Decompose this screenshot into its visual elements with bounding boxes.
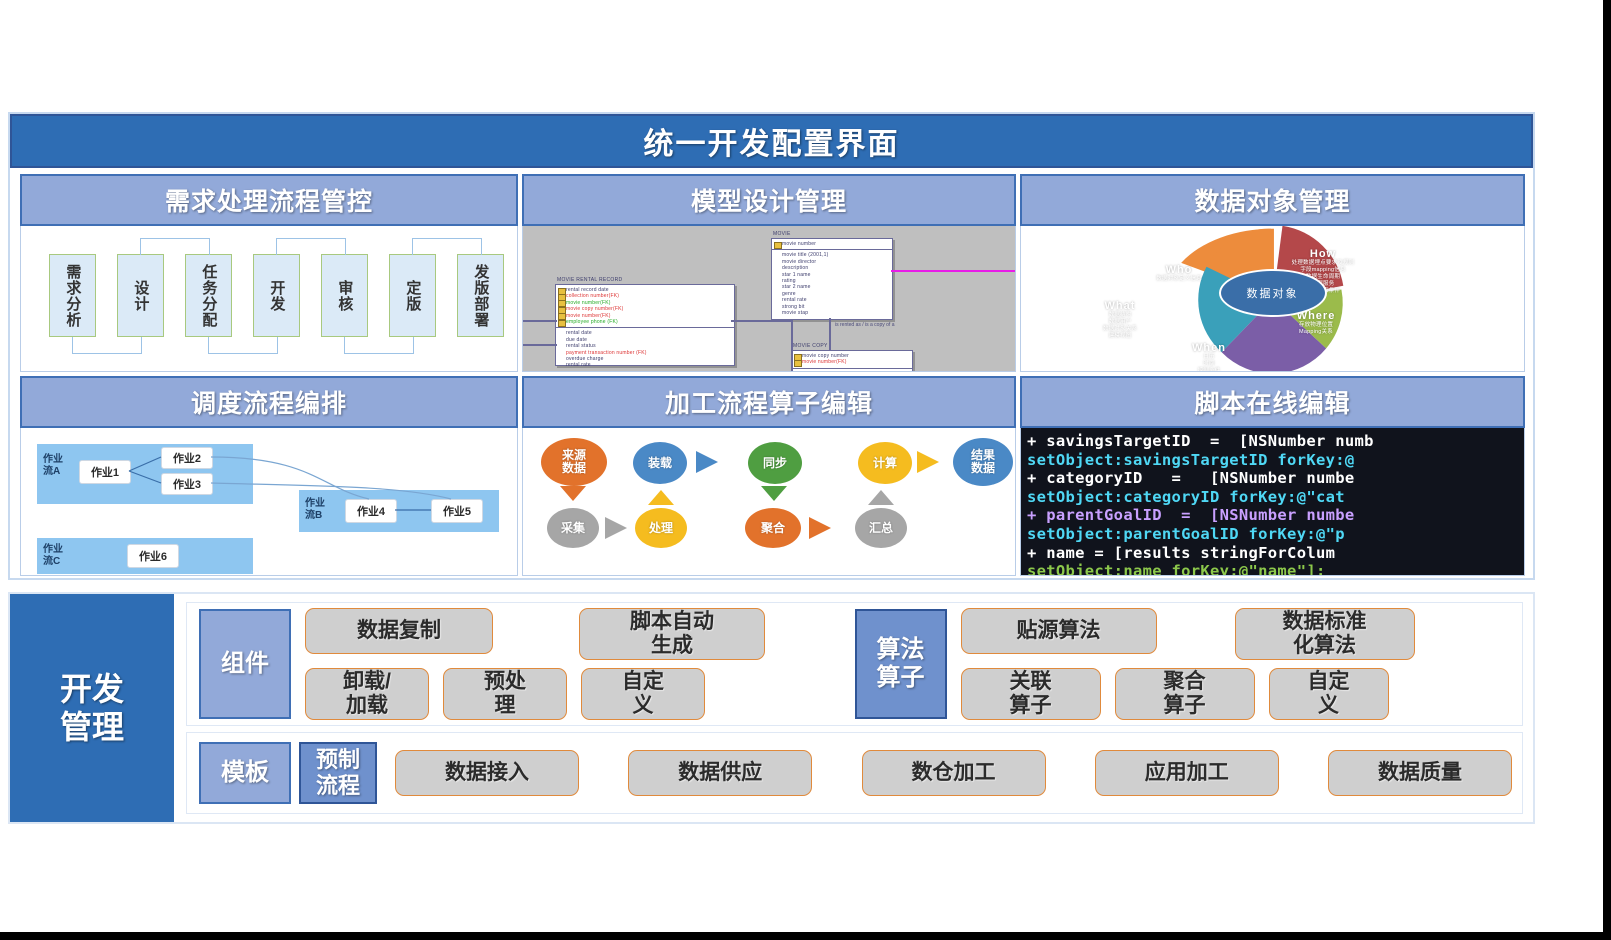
arrow-right-icon [917, 451, 939, 473]
panel-dataobject-title: 数据对象管理 [1194, 182, 1350, 218]
chip-item[interactable]: 数据接入 [395, 750, 579, 796]
algorithm-chip-list: 贴源算法 数据标准 化算法 关联 算子 聚合 算子 自定 义 [947, 609, 1511, 719]
code-line: setObject:savingsTargetID forKey:@ [1027, 451, 1524, 470]
category-preset-flow[interactable]: 预制 流程 [299, 742, 377, 804]
flow-step[interactable]: 发版部署 [457, 254, 504, 337]
code-line: + name = [results stringForColum [1027, 544, 1524, 563]
flow-connector [140, 238, 210, 255]
chip-item[interactable]: 脚本自动 生成 [579, 608, 765, 660]
category-algorithm-operators[interactable]: 算法 算子 [855, 609, 947, 719]
chip-item[interactable]: 应用加工 [1095, 750, 1279, 796]
panel-schedule-body: 作业 流A 作业1 作业2 作业3 作业 流B 作业4 作业5 作业 流C 作业… [20, 428, 518, 576]
operator-node-load[interactable]: 装载 [633, 442, 687, 484]
job-node[interactable]: 作业4 [345, 499, 397, 523]
panel-operator-body: 来源 数据 装载 同步 计算 结果 数据 采集 处理 聚合 汇总 [522, 428, 1016, 576]
arrow-right-icon [605, 517, 627, 539]
er-entity-movie-copy[interactable]: MOVIE COPY movie copy number movie numbe… [791, 350, 913, 372]
er-relationship-line [791, 320, 793, 372]
right-edge-bar [1603, 0, 1611, 940]
er-relationship-line [829, 318, 831, 350]
code-line: setObject:parentGoalID forKey:@"p [1027, 525, 1524, 544]
panel-dataobject-header: 数据对象管理 [1020, 174, 1525, 226]
unified-dev-config-section: 统一开发配置界面 需求处理流程管控 需求分析 设计 任务分配 开发 审核 定版 … [8, 112, 1535, 580]
chip-item[interactable]: 数据标准 化算法 [1235, 608, 1415, 660]
flow-step[interactable]: 定版 [389, 254, 436, 337]
algorithm-group: 算法 算子 贴源算法 数据标准 化算法 关联 算子 聚合 算子 自定 义 [855, 603, 1523, 725]
chip-item[interactable]: 卸载/ 加载 [305, 668, 429, 720]
chip-item[interactable]: 数据复制 [305, 608, 493, 654]
data-object-chart: Who 数据对象定义信息 What 数据结构 数据用户 数据对象关系 建模视图 … [1021, 226, 1524, 371]
chip-item[interactable]: 数据质量 [1328, 750, 1512, 796]
operator-node-process[interactable]: 处理 [635, 508, 687, 548]
job-node[interactable]: 作业5 [431, 499, 483, 523]
job-node[interactable]: 作业2 [161, 447, 213, 469]
panel-dataobject-body: Who 数据对象定义信息 What 数据结构 数据用户 数据对象关系 建模视图 … [1020, 226, 1525, 372]
panel-schedule-header: 调度流程编排 [20, 376, 518, 428]
er-relationship-line [891, 270, 1016, 272]
panel-operator-editing[interactable]: 加工流程算子编辑 来源 数据 装载 同步 计算 结果 数据 采集 处理 聚合 汇… [522, 376, 1016, 576]
arrow-down-icon [560, 486, 586, 501]
er-entity-movie-rental-record[interactable]: MOVIE RENTAL RECORD rental record date c… [555, 284, 735, 366]
flow-step[interactable]: 设计 [117, 254, 164, 337]
component-algorithm-row: 组件 数据复制 脚本自动 生成 卸载/ 加载 预处 理 自定 义 算法 算子 贴… [186, 602, 1523, 726]
schedule-diagram: 作业 流A 作业1 作业2 作业3 作业 流B 作业4 作业5 作业 流C 作业… [21, 428, 517, 575]
template-group: 模板 预制 流程 [187, 742, 377, 804]
operator-node-sync[interactable]: 同步 [748, 442, 802, 484]
er-entity-keys: movie copy number movie number(FK) [792, 351, 912, 369]
panel-requirement-body: 需求分析 设计 任务分配 开发 审核 定版 发版部署 [20, 226, 518, 372]
job-node[interactable]: 作业1 [79, 460, 131, 484]
operator-node-result[interactable]: 结果 数据 [953, 438, 1013, 486]
slide-canvas: 统一开发配置界面 需求处理流程管控 需求分析 设计 任务分配 开发 审核 定版 … [0, 0, 1603, 932]
flow-step[interactable]: 开发 [253, 254, 300, 337]
donut-label-what: What 数据结构 数据用户 数据对象关系 建模视图 [1078, 300, 1162, 340]
component-chip-list: 数据复制 脚本自动 生成 卸载/ 加载 预处 理 自定 义 [291, 609, 855, 719]
panel-requirement-header: 需求处理流程管控 [20, 174, 518, 226]
donut-center-label: 数据对象 [1219, 269, 1327, 317]
panel-model-design[interactable]: 模型设计管理 MOVIE movie number movie title (2… [522, 174, 1016, 372]
category-components[interactable]: 组件 [199, 609, 291, 719]
panel-schedule-orchestration[interactable]: 调度流程编排 作业 流A 作业1 作业2 作业3 作业 流B 作业4 作业5 [20, 376, 518, 576]
er-entity-fields: movie title (2001,1) movie director desc… [772, 250, 892, 318]
panel-data-object-management[interactable]: 数据对象管理 [1020, 174, 1525, 372]
er-relationship-line [523, 344, 557, 346]
er-entity-fields: rental date due date rental status payme… [556, 328, 734, 370]
panel-model-body: MOVIE movie number movie title (2001,1) … [522, 226, 1016, 372]
chip-item[interactable]: 预处 理 [443, 668, 567, 720]
arrow-right-icon [809, 517, 831, 539]
chip-item[interactable]: 自定 义 [581, 668, 705, 720]
dev-management-label: 开发 管理 [10, 594, 174, 822]
job-node[interactable]: 作业6 [127, 544, 179, 568]
operator-node-source[interactable]: 来源 数据 [541, 438, 607, 486]
operator-node-collect[interactable]: 采集 [547, 508, 599, 548]
template-row: 模板 预制 流程 数据接入 数据供应 数仓加工 应用加工 数据质量 [186, 732, 1523, 814]
arrow-up-icon [648, 490, 674, 505]
job-node[interactable]: 作业3 [161, 473, 213, 495]
er-entity-keys: rental record date collection number(FK)… [556, 285, 734, 328]
page-title: 统一开发配置界面 [10, 114, 1533, 168]
er-entity-keys: movie number [772, 239, 892, 250]
code-line: + categoryID = [NSNumber numbe [1027, 469, 1524, 488]
panel-script-header: 脚本在线编辑 [1020, 376, 1525, 428]
chip-item[interactable]: 关联 算子 [961, 668, 1101, 720]
er-relationship-line [731, 320, 793, 322]
panel-script-body: + savingsTargetID = [NSNumber numb setOb… [1020, 428, 1525, 576]
chip-item[interactable]: 聚合 算子 [1115, 668, 1255, 720]
operator-flow-diagram: 来源 数据 装载 同步 计算 结果 数据 采集 处理 聚合 汇总 [523, 428, 1015, 575]
code-line: setObject:name forKey:@"name"]; [1027, 562, 1524, 575]
page-title-text: 统一开发配置界面 [644, 119, 900, 163]
code-line: + savingsTargetID = [NSNumber numb [1027, 432, 1524, 451]
er-relationship-line [523, 320, 557, 322]
operator-node-summary[interactable]: 汇总 [855, 508, 907, 548]
panel-script-title: 脚本在线编辑 [1194, 384, 1350, 420]
component-group: 组件 数据复制 脚本自动 生成 卸载/ 加载 预处 理 自定 义 [187, 603, 855, 725]
arrow-up-icon [868, 490, 894, 505]
code-editor[interactable]: + savingsTargetID = [NSNumber numb setOb… [1021, 428, 1524, 575]
er-diagram: MOVIE movie number movie title (2001,1) … [523, 226, 1015, 371]
arrow-down-icon [761, 486, 787, 501]
code-line: setObject:categoryID forKey:@"cat [1027, 488, 1524, 507]
panel-model-title: 模型设计管理 [691, 182, 847, 218]
er-entity-movie[interactable]: MOVIE movie number movie title (2001,1) … [771, 238, 893, 320]
panel-requirement-title: 需求处理流程管控 [165, 182, 373, 218]
flow-step[interactable]: 审核 [321, 254, 368, 337]
panel-model-header: 模型设计管理 [522, 174, 1016, 226]
chip-item[interactable]: 数据供应 [628, 750, 812, 796]
chip-item[interactable]: 自定 义 [1269, 668, 1389, 720]
panel-schedule-title: 调度流程编排 [191, 384, 347, 420]
code-line: + parentGoalID = [NSNumber numbe [1027, 506, 1524, 525]
requirement-flow-diagram: 需求分析 设计 任务分配 开发 审核 定版 发版部署 [21, 226, 517, 371]
development-management-section: 开发 管理 组件 数据复制 脚本自动 生成 卸载/ 加载 预处 理 自定 义 算… [8, 592, 1535, 824]
joblane-a[interactable]: 作业 流A [37, 444, 253, 504]
flow-step[interactable]: 任务分配 [185, 254, 232, 337]
template-chip-list: 数据接入 数据供应 数仓加工 应用加工 数据质量 [377, 750, 1522, 796]
panel-operator-title: 加工流程算子编辑 [665, 384, 873, 420]
chip-item[interactable]: 数仓加工 [862, 750, 1046, 796]
flow-step[interactable]: 需求分析 [49, 254, 96, 337]
flow-connector [412, 238, 482, 255]
flow-connector [276, 238, 346, 255]
operator-node-compute[interactable]: 计算 [858, 442, 912, 484]
panel-operator-header: 加工流程算子编辑 [522, 376, 1016, 428]
panel-requirement-process[interactable]: 需求处理流程管控 需求分析 设计 任务分配 开发 审核 定版 发版部署 [20, 174, 518, 372]
flow-connector [72, 337, 142, 354]
donut-label-who: Who 数据对象定义信息 [1136, 264, 1222, 283]
flow-connector [344, 337, 414, 354]
er-entity-fields: general condition movie format [792, 369, 912, 372]
donut-label-when: When 日历 时间 控制条件 [1169, 342, 1249, 372]
arrow-right-icon [696, 451, 718, 473]
bottom-edge-bar [0, 932, 1611, 940]
flow-connector [208, 337, 278, 354]
chip-item[interactable]: 贴源算法 [961, 608, 1157, 654]
category-template[interactable]: 模板 [199, 742, 291, 804]
panel-script-editor[interactable]: 脚本在线编辑 + savingsTargetID = [NSNumber num… [1020, 376, 1525, 576]
operator-node-aggregate[interactable]: 聚合 [745, 508, 801, 548]
